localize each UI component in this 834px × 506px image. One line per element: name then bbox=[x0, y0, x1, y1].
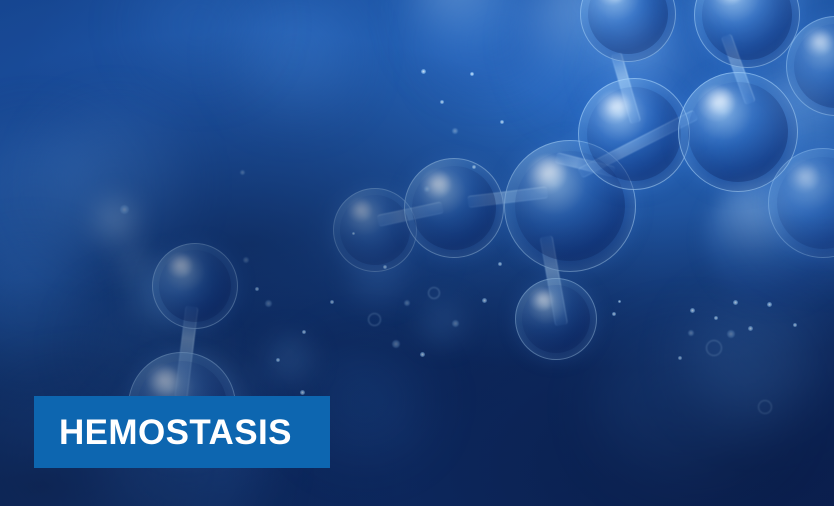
hero-banner: HEMOSTASIS bbox=[0, 0, 834, 506]
page-title: HEMOSTASIS bbox=[59, 415, 292, 450]
title-banner: HEMOSTASIS bbox=[34, 396, 330, 468]
